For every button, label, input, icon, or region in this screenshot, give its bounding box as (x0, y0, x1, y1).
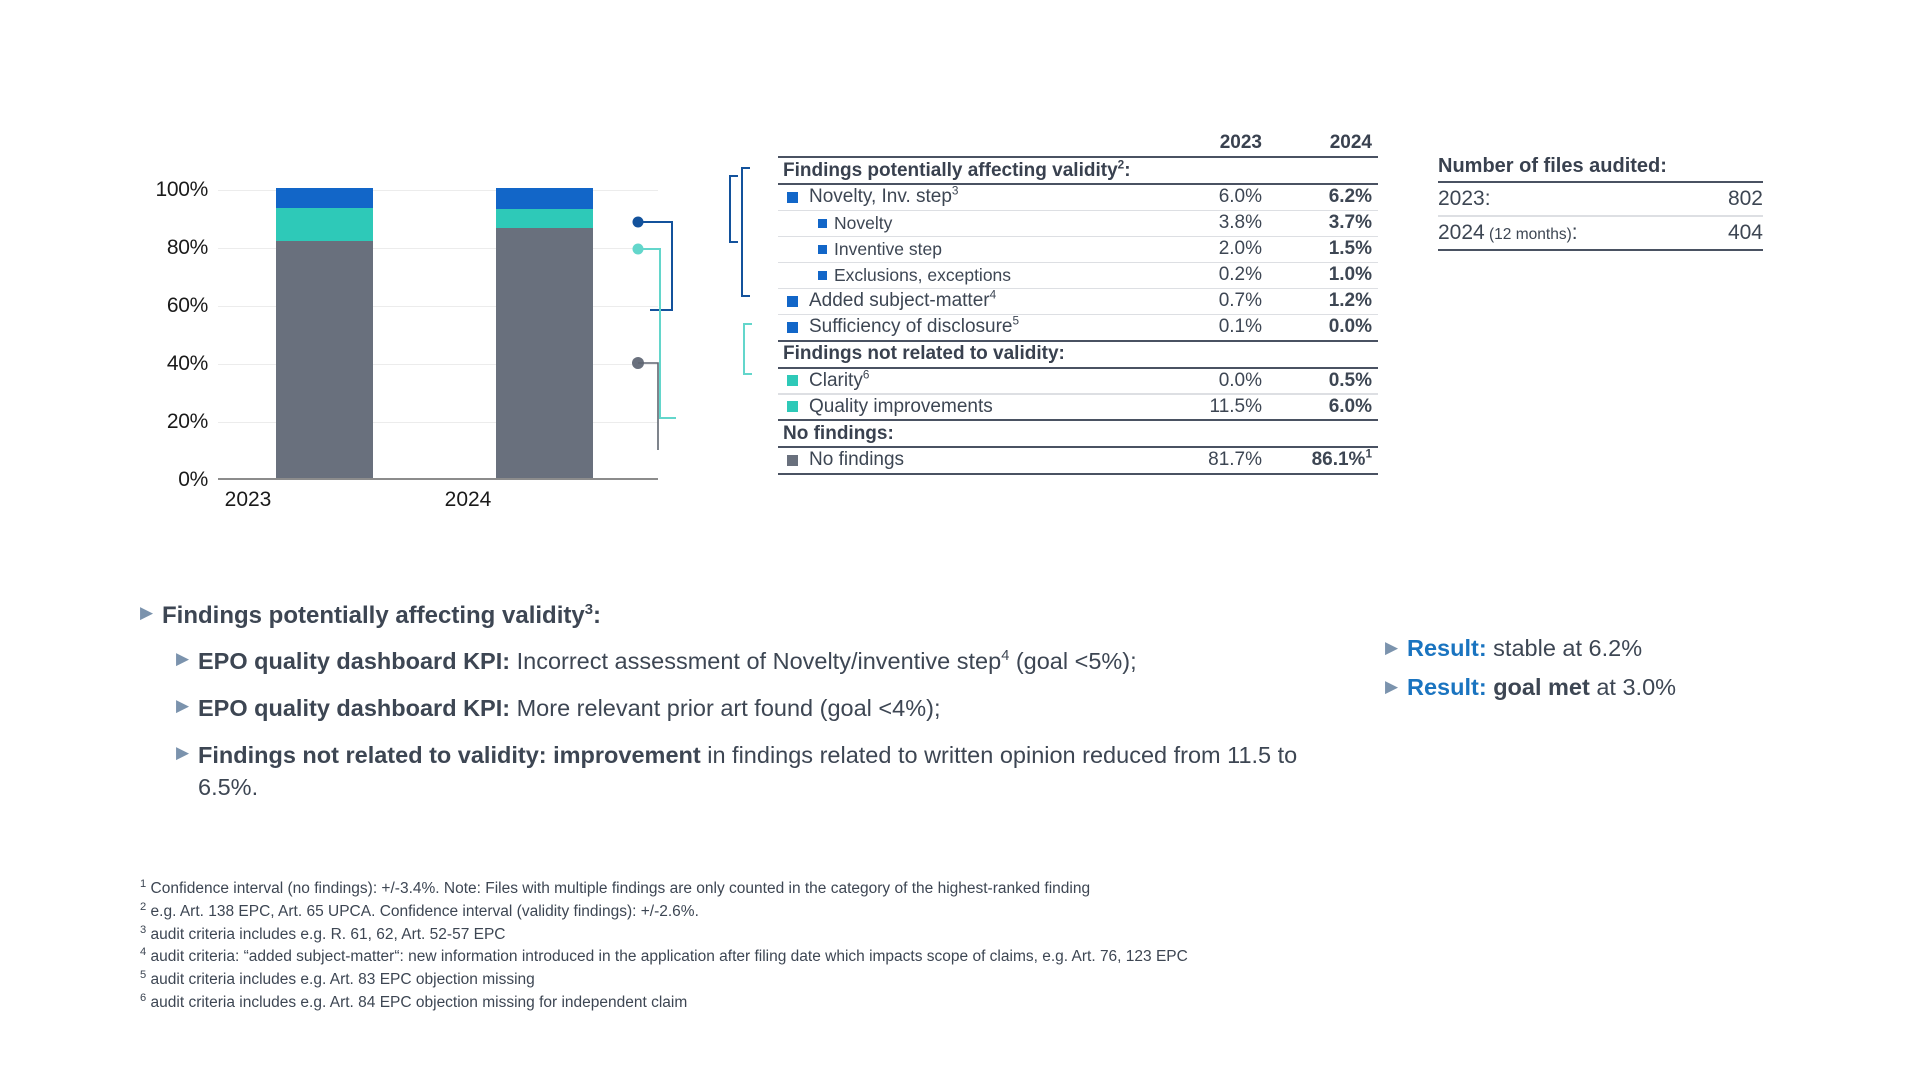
bar-2023 (276, 188, 373, 478)
table-row: Clarity60.0%0.5% (778, 369, 1378, 394)
value-2023: 0.2% (1162, 264, 1268, 286)
y-axis: 0%20%40%60%80%100% (140, 190, 208, 480)
files-audited-key-2024: 2024 (12 months): (1438, 221, 1728, 245)
value-2024: 0.5% (1268, 370, 1378, 392)
row-label: Added subject-matter4 (787, 290, 1162, 312)
value-2024: 1.2% (1268, 290, 1378, 312)
table-row: Quality improvements11.5%6.0% (778, 395, 1378, 420)
value-2023: 11.5% (1162, 396, 1268, 418)
legend-swatch-icon (787, 296, 798, 307)
result-text: Result: stable at 6.2% (1407, 635, 1642, 662)
row-label: Sufficiency of disclosure5 (787, 316, 1162, 338)
row-label-text: Novelty, Inv. step3 (809, 186, 958, 208)
col-header-2023: 2023 (1162, 132, 1268, 154)
y-tick-label: 60% (167, 294, 208, 318)
bullet-text: Findings potentially affecting validity3… (162, 600, 601, 632)
footnote: 4 audit criteria: “added subject-matter“… (140, 946, 1740, 969)
row-label: Clarity6 (787, 370, 1162, 392)
legend-swatch-icon (787, 401, 798, 412)
row-label-text: Exclusions, exceptions (834, 265, 1011, 286)
table-row: Inventive step2.0%1.5% (778, 237, 1378, 262)
footnote: 2 e.g. Art. 138 EPC, Art. 65 UPCA. Confi… (140, 901, 1740, 924)
y-tick-label: 40% (167, 352, 208, 376)
footnotes: 1 Confidence interval (no findings): +/-… (140, 878, 1740, 1015)
value-2023: 0.0% (1162, 370, 1268, 392)
table-row: Sufficiency of disclosure50.1%0.0% (778, 315, 1378, 340)
value-2024: 1.0% (1268, 264, 1378, 286)
legend-swatch-icon (787, 192, 798, 203)
x-axis-line (218, 478, 658, 480)
row-label: Inventive step (818, 239, 1162, 260)
col-header-2024: 2024 (1268, 132, 1378, 154)
x-tick-2024: 2024 (408, 488, 528, 512)
bullet-text: EPO quality dashboard KPI: More relevant… (198, 693, 940, 724)
table-row: Novelty, Inv. step36.0%6.2% (778, 185, 1378, 210)
footnote: 1 Confidence interval (no findings): +/-… (140, 878, 1740, 901)
row-label: Quality improvements (787, 396, 1162, 418)
legend-swatch-icon (787, 455, 798, 466)
value-2023: 2.0% (1162, 238, 1268, 260)
row-label: Exclusions, exceptions (818, 265, 1162, 286)
value-2023: 3.8% (1162, 212, 1268, 234)
bullet-item: ▶Findings not related to validity: impro… (140, 740, 1320, 803)
legend-swatch-icon (818, 219, 827, 228)
bullet-list: ▶Findings potentially affecting validity… (140, 600, 1320, 819)
footnote: 3 audit criteria includes e.g. R. 61, 62… (140, 924, 1740, 947)
files-audited-row-2023: 2023: 802 (1438, 183, 1763, 215)
bullet-item: ▶Findings potentially affecting validity… (140, 600, 1320, 632)
y-tick-label: 20% (167, 410, 208, 434)
footnote: 6 audit criteria includes e.g. Art. 84 E… (140, 992, 1740, 1015)
legend-swatch-icon (818, 245, 827, 254)
value-2023: 6.0% (1162, 186, 1268, 208)
legend-swatch-icon (787, 375, 798, 386)
files-audited-year-2024: 2024 (1438, 221, 1485, 244)
row-label: Novelty (818, 213, 1162, 234)
files-audited-note: (12 months) (1485, 226, 1572, 243)
files-audited-title: Number of files audited: (1438, 155, 1763, 181)
table-section-not-validity: Findings not related to validity: (778, 342, 1378, 367)
bar-segment (276, 188, 373, 208)
value-2023: 0.1% (1162, 316, 1268, 338)
row-label: No findings (787, 449, 1162, 471)
triangle-bullet-icon: ▶ (176, 693, 198, 718)
bar-segment (276, 208, 373, 241)
value-2023: 81.7% (1162, 449, 1268, 471)
table-section-validity: Findings potentially affecting validity2… (778, 158, 1378, 183)
section-title: No findings: (778, 423, 1162, 445)
bar-segment (276, 241, 373, 478)
legend-swatch-icon (818, 271, 827, 280)
row-label-text: Quality improvements (809, 396, 993, 418)
bullet-item: ▶EPO quality dashboard KPI: More relevan… (140, 693, 1320, 724)
files-audited-row-2024: 2024 (12 months): 404 (1438, 217, 1763, 249)
y-tick-label: 100% (155, 178, 208, 202)
row-label-text: No findings (809, 449, 904, 471)
legend-swatch-icon (787, 322, 798, 333)
x-tick-2023: 2023 (188, 488, 308, 512)
files-audited-value-2024: 404 (1728, 221, 1763, 245)
triangle-bullet-icon: ▶ (176, 646, 198, 671)
row-label-text: Added subject-matter4 (809, 290, 996, 312)
result-item: ▶Result: goal met at 3.0% (1385, 674, 1885, 701)
table-row: Novelty3.8%3.7% (778, 211, 1378, 236)
section-title: Findings potentially affecting validity2… (778, 160, 1162, 182)
triangle-bullet-icon: ▶ (140, 600, 162, 625)
value-2024: 6.2% (1268, 186, 1378, 208)
value-2024: 1.5% (1268, 238, 1378, 260)
triangle-bullet-icon: ▶ (176, 740, 198, 765)
row-label-text: Clarity6 (809, 370, 869, 392)
result-text: Result: goal met at 3.0% (1407, 674, 1676, 701)
row-label-text: Sufficiency of disclosure5 (809, 316, 1019, 338)
table-row: Added subject-matter40.7%1.2% (778, 289, 1378, 314)
row-label-text: Inventive step (834, 239, 942, 260)
table-brackets (700, 150, 790, 470)
value-2023: 0.7% (1162, 290, 1268, 312)
results-list: ▶Result: stable at 6.2%▶Result: goal met… (1385, 635, 1885, 713)
triangle-bullet-icon: ▶ (1385, 635, 1407, 660)
value-2024: 0.0% (1268, 316, 1378, 338)
findings-table: 2023 2024 Findings potentially affecting… (778, 118, 1378, 475)
table-section-no-findings: No findings: (778, 421, 1378, 446)
section-title: Findings not related to validity: (778, 343, 1162, 365)
triangle-bullet-icon: ▶ (1385, 674, 1407, 699)
files-audited-value-2023: 802 (1728, 187, 1763, 211)
table-header-row: 2023 2024 (778, 118, 1378, 156)
row-label: Novelty, Inv. step3 (787, 186, 1162, 208)
y-tick-label: 80% (167, 236, 208, 260)
bullet-item: ▶EPO quality dashboard KPI: Incorrect as… (140, 646, 1320, 677)
bullet-text: EPO quality dashboard KPI: Incorrect ass… (198, 646, 1137, 677)
files-audited-panel: Number of files audited: 2023: 802 2024 … (1438, 155, 1763, 251)
bullet-text: Findings not related to validity: improv… (198, 740, 1320, 803)
table-row: Exclusions, exceptions0.2%1.0% (778, 263, 1378, 288)
footnote: 5 audit criteria includes e.g. Art. 83 E… (140, 969, 1740, 992)
value-2024: 6.0% (1268, 396, 1378, 418)
files-audited-key-2023: 2023: (1438, 187, 1728, 211)
slide-canvas: 0%20%40%60%80%100% 2023 2024 2023 2024 F (0, 0, 1920, 1080)
files-audited-colon: : (1572, 221, 1578, 244)
value-2024: 86.1%1 (1268, 449, 1378, 471)
row-label-text: Novelty (834, 213, 892, 234)
result-item: ▶Result: stable at 6.2% (1385, 635, 1885, 662)
table-row: No findings81.7%86.1%1 (778, 448, 1378, 473)
callout-connectors (500, 150, 700, 450)
value-2024: 3.7% (1268, 212, 1378, 234)
